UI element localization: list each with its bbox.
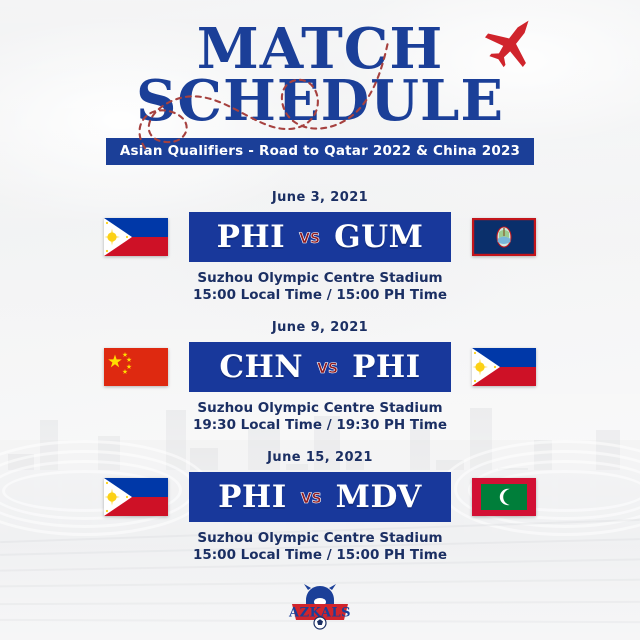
match-row: June 9, 2021 CHN VS PHI (0, 320, 640, 435)
vs-label: VS (317, 359, 338, 376)
fixture-banner: CHN VS PHI (189, 342, 451, 392)
flag-china (104, 348, 168, 386)
title-block: MATCH SCHEDULE (136, 24, 504, 127)
match-date: June 3, 2021 (0, 190, 640, 205)
fixture-banner: PHI VS GUM (189, 212, 451, 262)
match-row: June 3, 2021 (0, 190, 640, 305)
away-team-code: PHI (352, 352, 421, 383)
away-team-code: MDV (336, 482, 422, 513)
home-team-code: CHN (219, 352, 303, 383)
match-time: 15:00 Local Time / 15:00 PH Time (0, 547, 640, 564)
vs-label: VS (301, 489, 322, 506)
match-venue-block: Suzhou Olympic Centre Stadium 15:00 Loca… (0, 530, 640, 565)
footer-branding: AZKALS (0, 582, 640, 632)
azkals-team-logo: AZKALS (284, 582, 356, 632)
match-time: 15:00 Local Time / 15:00 PH Time (0, 287, 640, 304)
subtitle-banner: Asian Qualifiers - Road to Qatar 2022 & … (106, 138, 534, 165)
home-team-code: PHI (218, 482, 287, 513)
match-venue-block: Suzhou Olympic Centre Stadium 19:30 Loca… (0, 400, 640, 435)
fixture-banner: PHI VS MDV (189, 472, 451, 522)
page-title-line2: SCHEDULE (136, 76, 504, 128)
poster-header: MATCH SCHEDULE Asian Qualifiers - Road t… (0, 24, 640, 165)
flag-guam (472, 218, 536, 256)
match-date: June 9, 2021 (0, 320, 640, 335)
match-time: 19:30 Local Time / 19:30 PH Time (0, 417, 640, 434)
match-venue: Suzhou Olympic Centre Stadium (0, 530, 640, 547)
match-venue: Suzhou Olympic Centre Stadium (0, 270, 640, 287)
flag-philippines (104, 478, 168, 516)
home-team-code: PHI (217, 222, 286, 253)
flag-philippines (104, 218, 168, 256)
match-fixture: PHI VS MDV (0, 471, 640, 523)
match-row: June 15, 2021 (0, 450, 640, 565)
match-fixture: CHN VS PHI (0, 341, 640, 393)
flag-maldives (472, 478, 536, 516)
vs-label: VS (299, 229, 320, 246)
flag-philippines (472, 348, 536, 386)
match-date: June 15, 2021 (0, 450, 640, 465)
match-venue-block: Suzhou Olympic Centre Stadium 15:00 Loca… (0, 270, 640, 305)
match-fixture: PHI VS GUM (0, 211, 640, 263)
away-team-code: GUM (334, 222, 423, 253)
match-venue: Suzhou Olympic Centre Stadium (0, 400, 640, 417)
